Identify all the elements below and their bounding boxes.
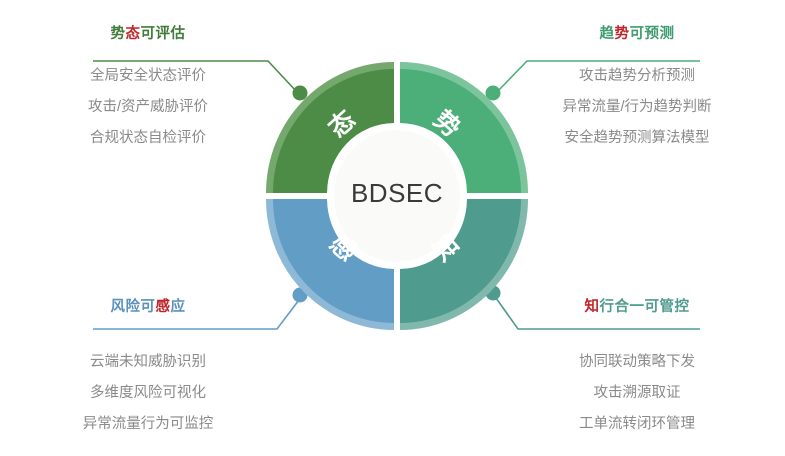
panel-top-left: 势态可评估 全局安全状态评价 攻击/资产威胁评价 合规状态自检评价 [22, 27, 274, 145]
panel-title-bottom-right: 知行合一可管控 [511, 300, 763, 315]
list-item: 攻击趋势分析预测 [511, 69, 763, 84]
panel-title-highlight: 态 [126, 26, 141, 42]
panel-title-pre: 势 [111, 26, 126, 42]
list-item: 合规状态自检评价 [22, 131, 274, 146]
panel-list-bottom-right: 协同联动策略下发 攻击溯源取证 工单流转闭环管理 [511, 355, 763, 432]
diagram-canvas: 态 势 感 知 BDSEC 势态可评估 全局安全状态评价 攻击/资产威胁评价 合… [0, 0, 785, 456]
panel-title-highlight: 知 [585, 299, 600, 315]
list-item: 异常流量/行为趋势判断 [511, 100, 763, 115]
panel-list-top-left: 全局安全状态评价 攻击/资产威胁评价 合规状态自检评价 [22, 69, 274, 146]
hub-label: BDSEC [266, 180, 528, 206]
panel-title-post: 可预测 [630, 26, 675, 42]
panel-title-top-left: 势态可评估 [22, 27, 274, 42]
panel-title-pre: 趋 [600, 26, 615, 42]
panel-title-highlight: 势 [615, 26, 630, 42]
panel-title-post: 应 [171, 299, 186, 315]
panel-bottom-right: 知行合一可管控 协同联动策略下发 攻击溯源取证 工单流转闭环管理 [511, 300, 763, 431]
list-item: 异常流量行为可监控 [22, 417, 274, 432]
panel-title-top-right: 趋势可预测 [511, 27, 763, 42]
panel-title-highlight: 感 [156, 299, 171, 315]
panel-bottom-left: 风险可感应 云端未知威胁识别 多维度风险可视化 异常流量行为可监控 [22, 300, 274, 431]
panel-title-post: 行合一可管控 [600, 299, 690, 315]
panel-list-top-right: 攻击趋势分析预测 异常流量/行为趋势判断 安全趋势预测算法模型 [511, 69, 763, 146]
list-item: 协同联动策略下发 [511, 355, 763, 370]
donut-chart: 态 势 感 知 BDSEC [266, 62, 528, 330]
list-item: 安全趋势预测算法模型 [511, 131, 763, 146]
panel-list-bottom-left: 云端未知威胁识别 多维度风险可视化 异常流量行为可监控 [22, 355, 274, 432]
panel-title-bottom-left: 风险可感应 [22, 300, 274, 315]
panel-title-pre: 风险可 [111, 299, 156, 315]
list-item: 攻击/资产威胁评价 [22, 100, 274, 115]
list-item: 全局安全状态评价 [22, 69, 274, 84]
list-item: 多维度风险可视化 [22, 386, 274, 401]
panel-top-right: 趋势可预测 攻击趋势分析预测 异常流量/行为趋势判断 安全趋势预测算法模型 [511, 27, 763, 145]
list-item: 工单流转闭环管理 [511, 417, 763, 432]
list-item: 攻击溯源取证 [511, 386, 763, 401]
panel-title-post: 可评估 [141, 26, 186, 42]
list-item: 云端未知威胁识别 [22, 355, 274, 370]
